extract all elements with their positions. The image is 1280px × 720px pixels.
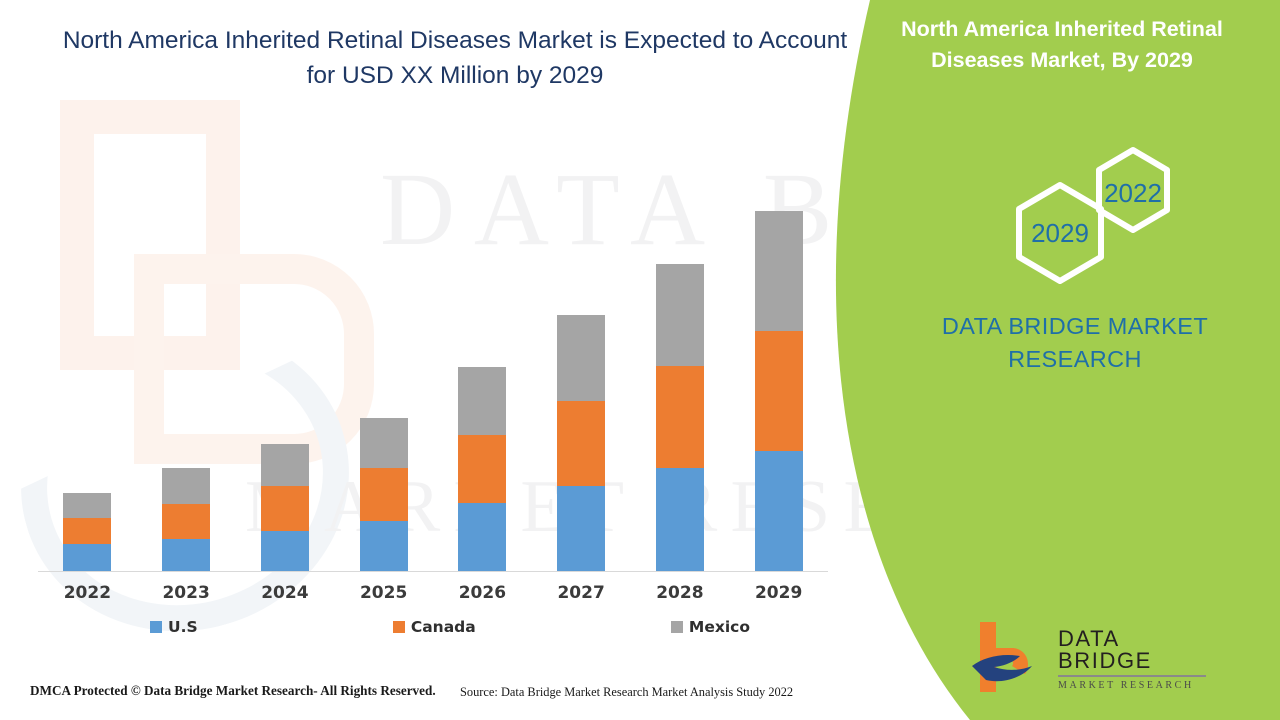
stacked-bar[interactable]	[458, 367, 506, 571]
x-tick-2022: 2022	[38, 583, 137, 603]
bar-segment-mexico-2028[interactable]	[656, 264, 704, 366]
footer-source: Source: Data Bridge Market Research Mark…	[460, 685, 793, 700]
x-axis-labels: 20222023202420252026202720282029	[38, 583, 828, 603]
legend-item-canada[interactable]: Canada	[393, 618, 476, 636]
infographic-page: DATA BRIDGE MARKET RESEARCH North Americ…	[0, 0, 1280, 720]
brand-name: DATA BRIDGE MARKET RESEARCH	[910, 310, 1240, 377]
x-tick-2026: 2026	[433, 583, 532, 603]
stacked-bar[interactable]	[261, 444, 309, 571]
logo-main-text: DATA BRIDGE	[1058, 628, 1208, 672]
chart-legend: U.SCanadaMexico	[150, 618, 750, 636]
stacked-bar[interactable]	[755, 211, 803, 571]
stacked-bar[interactable]	[656, 264, 704, 571]
bar-segment-mexico-2027[interactable]	[557, 315, 605, 401]
x-tick-2024: 2024	[236, 583, 335, 603]
bar-segment-canada-2023[interactable]	[162, 504, 210, 539]
bar-segment-us-2026[interactable]	[458, 503, 506, 571]
bar-segment-mexico-2025[interactable]	[360, 418, 408, 468]
brand-name-line-1: DATA BRIDGE MARKET	[910, 310, 1240, 343]
bar-segment-canada-2028[interactable]	[656, 366, 704, 468]
legend-label: Canada	[411, 618, 476, 636]
bar-segment-canada-2025[interactable]	[360, 468, 408, 521]
bar-segment-us-2027[interactable]	[557, 486, 605, 571]
legend-swatch-icon	[671, 621, 683, 633]
chart-bars	[38, 191, 828, 571]
bar-segment-canada-2026[interactable]	[458, 435, 506, 503]
brand-name-line-2: RESEARCH	[910, 343, 1240, 376]
bar-segment-us-2028[interactable]	[656, 468, 704, 571]
x-tick-2027: 2027	[532, 583, 631, 603]
bar-group-2028	[631, 191, 730, 571]
bar-segment-canada-2022[interactable]	[63, 518, 111, 544]
bar-segment-mexico-2022[interactable]	[63, 493, 111, 518]
legend-item-us[interactable]: U.S	[150, 618, 198, 636]
logo-sub-text: MARKET RESEARCH	[1058, 680, 1208, 691]
hexagon-group: 2022 2029	[985, 140, 1185, 290]
bar-segment-mexico-2029[interactable]	[755, 211, 803, 331]
bar-segment-canada-2029[interactable]	[755, 331, 803, 451]
logo-wordmark: DATA BRIDGE MARKET RESEARCH	[1058, 628, 1208, 691]
footer-copyright: DMCA Protected © Data Bridge Market Rese…	[30, 683, 436, 699]
stacked-bar-chart	[38, 190, 828, 572]
stacked-bar[interactable]	[360, 418, 408, 571]
hexagon-label-2029: 2029	[1031, 218, 1089, 248]
hexagon-label-2022: 2022	[1104, 178, 1162, 208]
bar-group-2027	[532, 191, 631, 571]
legend-label: Mexico	[689, 618, 750, 636]
x-tick-2028: 2028	[631, 583, 730, 603]
bar-segment-canada-2024[interactable]	[261, 486, 309, 531]
bar-segment-canada-2027[interactable]	[557, 401, 605, 486]
bar-segment-mexico-2023[interactable]	[162, 468, 210, 504]
bar-group-2023	[137, 191, 236, 571]
bar-segment-us-2029[interactable]	[755, 451, 803, 571]
logo-divider	[1058, 675, 1206, 677]
x-tick-2025: 2025	[334, 583, 433, 603]
bar-group-2024	[236, 191, 335, 571]
chart-baseline	[38, 571, 828, 572]
bar-group-2022	[38, 191, 137, 571]
bar-segment-us-2025[interactable]	[360, 521, 408, 571]
bar-segment-us-2024[interactable]	[261, 531, 309, 571]
panel-title: North America Inherited Retinal Diseases…	[868, 14, 1256, 75]
stacked-bar[interactable]	[557, 315, 605, 571]
data-bridge-logo: DATA BRIDGE MARKET RESEARCH	[970, 618, 1200, 698]
bar-group-2025	[334, 191, 433, 571]
bar-group-2026	[433, 191, 532, 571]
legend-swatch-icon	[393, 621, 405, 633]
logo-bridge-mark	[970, 618, 1060, 692]
bar-segment-us-2023[interactable]	[162, 539, 210, 571]
page-title: North America Inherited Retinal Diseases…	[60, 24, 850, 94]
legend-swatch-icon	[150, 621, 162, 633]
bar-segment-us-2022[interactable]	[63, 544, 111, 571]
bar-segment-mexico-2026[interactable]	[458, 367, 506, 435]
stacked-bar[interactable]	[63, 493, 111, 571]
legend-label: U.S	[168, 618, 198, 636]
legend-item-mexico[interactable]: Mexico	[671, 618, 750, 636]
bar-segment-mexico-2024[interactable]	[261, 444, 309, 486]
x-tick-2023: 2023	[137, 583, 236, 603]
stacked-bar[interactable]	[162, 468, 210, 571]
